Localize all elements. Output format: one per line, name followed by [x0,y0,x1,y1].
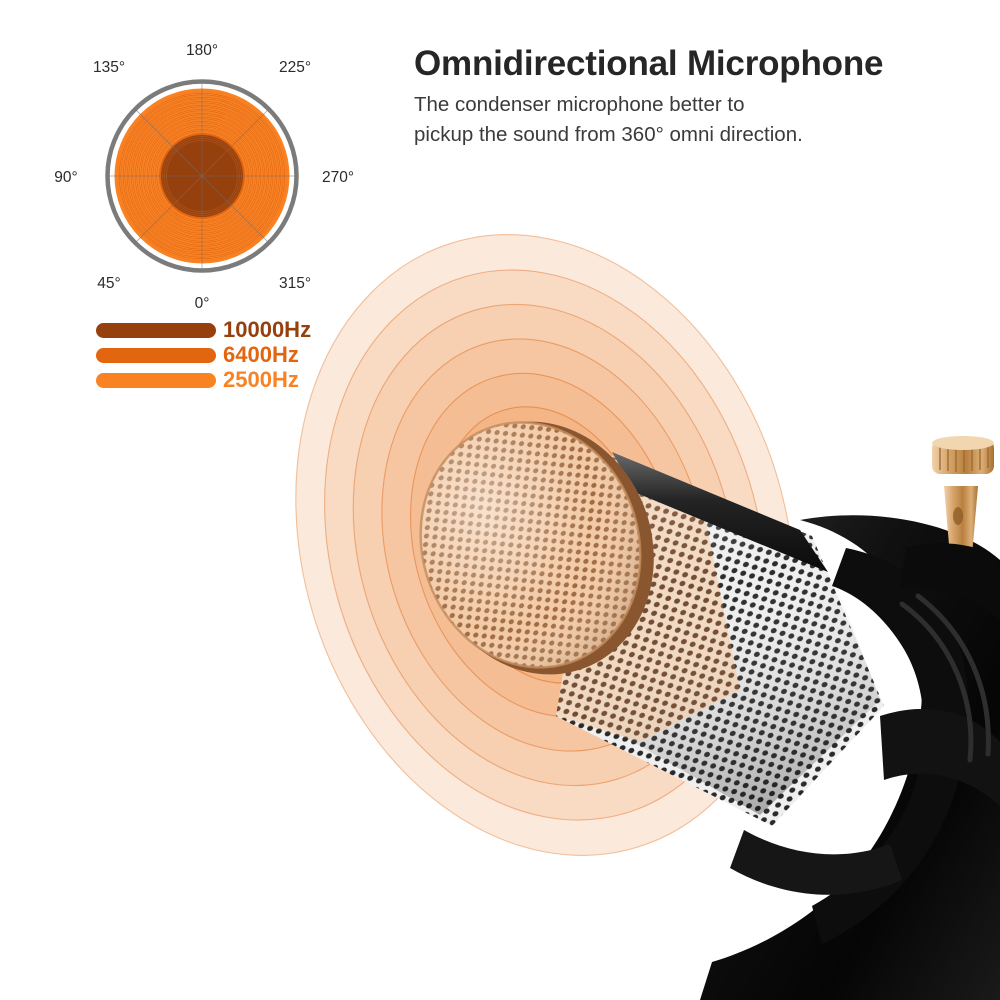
subtitle-line-2: pickup the sound from 360° omni directio… [414,120,974,150]
microphone-grille [540,430,920,850]
chart-tick-315: 315° [279,275,311,292]
legend-item-2500hz: 2500Hz [96,368,336,392]
legend-label-10000hz: 10000Hz [223,319,311,341]
legend-label-6400hz: 6400Hz [223,344,299,366]
chart-tick-270: 270° [322,169,354,186]
suspension-cords [902,596,988,760]
page-title: Omnidirectional Microphone [414,44,974,83]
sound-wave-ring-2 [441,420,649,669]
legend-item-10000hz: 10000Hz [96,318,336,342]
sound-wave-ring-1 [476,460,615,631]
shock-mount [730,548,1000,944]
legend-item-6400hz: 6400Hz [96,343,336,367]
frequency-legend: 10000Hz 6400Hz 2500Hz [96,318,336,393]
chart-tick-0: 0° [195,295,210,312]
microphone-support-band [612,452,828,572]
page-subtitle: The condenser microphone better to picku… [414,90,974,150]
polar-pattern-chart: 180° 135° 225° 90° 270° 45° 315° 0° [32,36,372,316]
mount-bracket [900,543,1000,620]
legend-swatch-2500hz [96,373,216,388]
sound-wave-ring-3 [405,380,684,710]
sound-wave-ring-5 [333,298,758,792]
chart-tick-90: 90° [54,169,77,186]
microphone-capsule [388,389,688,707]
chart-tick-135: 135° [93,59,125,76]
sound-wave-ring-6 [295,256,794,833]
chart-spokes [108,82,297,271]
legend-label-2500hz: 2500Hz [223,369,299,391]
chart-tick-45: 45° [97,275,120,292]
microphone-body [700,515,1000,1000]
product-feature-infographic: 180° 135° 225° 90° 270° 45° 315° 0° 1000… [0,0,1000,1000]
sound-wave-ring-4 [370,340,721,751]
gold-thumbscrew [932,436,994,556]
headline-block: Omnidirectional Microphone The condenser… [414,44,974,150]
legend-swatch-6400hz [96,348,216,363]
chart-tick-180: 180° [186,42,218,59]
subtitle-line-1: The condenser microphone better to [414,90,974,120]
chart-tick-225: 225° [279,59,311,76]
legend-swatch-10000hz [96,323,216,338]
